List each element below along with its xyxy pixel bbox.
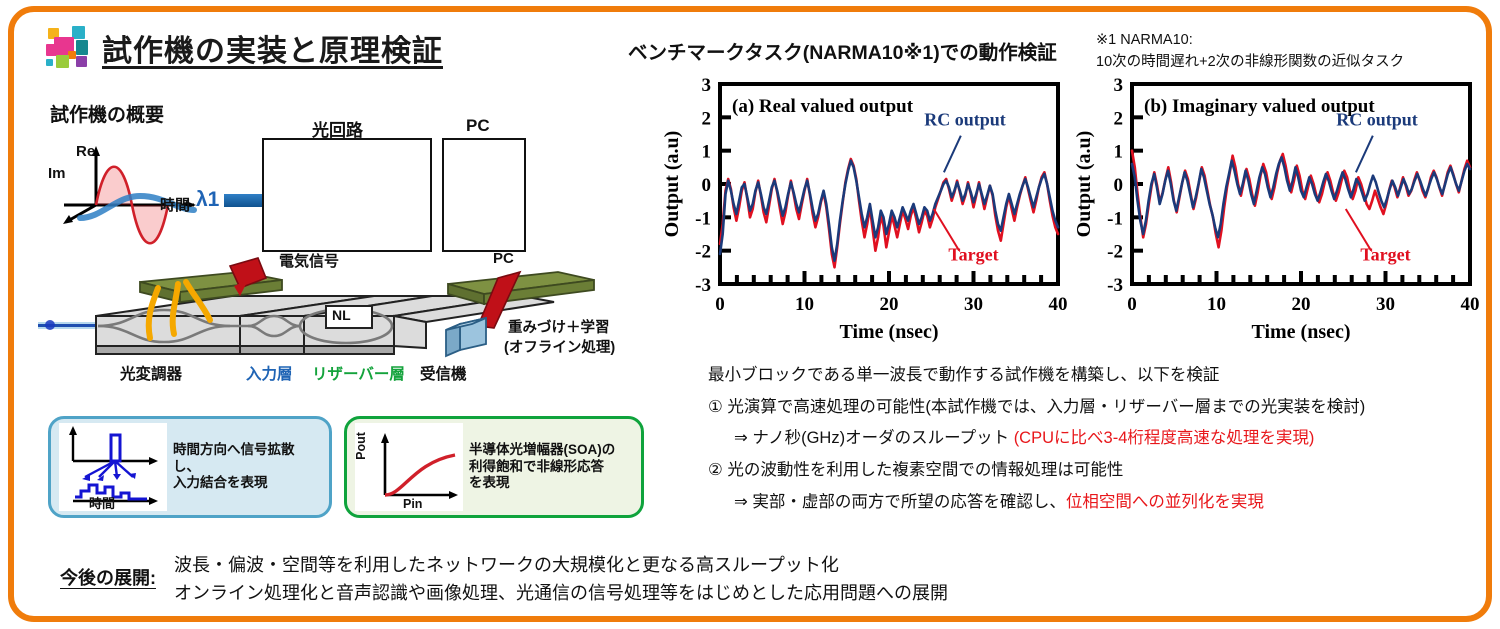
soa-saturation-chart: Pout Pin — [355, 423, 463, 511]
modulator-label: 光変調器 — [120, 362, 182, 384]
wavelength-label: λ1 — [196, 188, 219, 212]
callout-soa-line3: を表現 — [469, 475, 510, 490]
charts-container: -3-2-10123010203040Time (nsec)Output (a.… — [662, 72, 1500, 352]
svg-text:10: 10 — [795, 294, 814, 315]
soa-y-axis-label: Pout — [354, 432, 368, 460]
svg-text:-1: -1 — [1107, 208, 1123, 229]
finding-item-2-result: ⇒ 実部・虚部の両方で所望の応答を確認し、位相空間への並列化を実現 — [708, 487, 1365, 519]
finding-item-1-result: ⇒ ナノ秒(GHz)オーダのスループット (CPUに比べ3-4桁程度高速な処理を… — [708, 423, 1365, 455]
svg-text:Output (a.u): Output (a.u) — [662, 131, 683, 238]
svg-text:0: 0 — [1114, 175, 1124, 196]
optical-circuit-label: 光回路 — [312, 116, 363, 141]
svg-text:2: 2 — [702, 108, 712, 129]
axis-label-re: Re — [76, 143, 95, 160]
chart-b-svg: -3-2-10123010203040Time (nsec)Output (a.… — [1074, 72, 1482, 352]
conclusion-lines: 波長・偏波・空間等を利用したネットワークの大規模化と更なる高スループット化 オン… — [174, 552, 948, 608]
finding-2-result-black: ⇒ 実部・虚部の両方で所望の応答を確認し、 — [734, 493, 1066, 511]
svg-text:40: 40 — [1049, 294, 1068, 315]
conclusion-label: 今後の展開: — [60, 552, 156, 590]
svg-text:20: 20 — [880, 294, 899, 315]
svg-text:Target: Target — [1360, 245, 1410, 265]
chart-a-svg: -3-2-10123010203040Time (nsec)Output (a.… — [662, 72, 1070, 352]
chart-real-valued-output: -3-2-10123010203040Time (nsec)Output (a.… — [662, 72, 1070, 352]
pc-box — [442, 138, 526, 252]
finding-2-result-red: 位相空間への並列化を実現 — [1066, 493, 1264, 511]
nl-label: NL — [332, 307, 351, 323]
callout-time-axis-label: 時間 — [89, 493, 115, 512]
finding-1-result-red: (CPUに比べ3-4桁程度高速な処理を実現) — [1014, 429, 1315, 447]
findings-list: 最小ブロックである単一波長で動作する試作機を構築し、以下を検証 ① 光演算で高速… — [708, 360, 1365, 518]
svg-text:3: 3 — [702, 75, 712, 96]
soa-x-axis-label: Pin — [403, 497, 422, 511]
callout-input-coupling: 時間 時間方向へ信号拡散し、 入力結合を表現 — [48, 416, 332, 518]
svg-text:(a) Real valued output: (a) Real valued output — [732, 96, 914, 117]
svg-text:-3: -3 — [695, 275, 711, 296]
svg-text:-2: -2 — [695, 242, 711, 263]
finding-item-2: ② 光の波動性を利用した複素空間での情報処理は可能性 — [708, 455, 1365, 487]
finding-1-result-black: ⇒ ナノ秒(GHz)オーダのスループット — [734, 429, 1009, 447]
pc-label-top: PC — [466, 116, 490, 136]
svg-text:Time (nsec): Time (nsec) — [1251, 321, 1350, 343]
finding-item-1: ① 光演算で高速処理の可能性(本試作機では、入力層・リザーバー層までの光実装を検… — [708, 392, 1365, 424]
svg-text:1: 1 — [1114, 142, 1124, 163]
optical-circuit-box — [262, 138, 432, 252]
time-axis-label: 時間 — [160, 194, 190, 215]
receiver-label: 受信機 — [420, 362, 467, 384]
benchmark-note-line1: ※1 NARMA10: — [1096, 32, 1193, 48]
findings-intro: 最小ブロックである単一波長で動作する試作機を構築し、以下を検証 — [708, 360, 1365, 392]
svg-text:0: 0 — [715, 294, 725, 315]
chart-imaginary-valued-output: -3-2-10123010203040Time (nsec)Output (a.… — [1074, 72, 1482, 352]
svg-text:RC output: RC output — [1336, 110, 1418, 130]
input-layer-label: 入力層 — [246, 362, 293, 384]
input-spread-diagram: 時間 — [59, 423, 167, 511]
svg-text:10: 10 — [1207, 294, 1226, 315]
wavelength-bar — [224, 194, 266, 207]
callout-soa-nonlinearity: Pout Pin 半導体光増幅器(SOA)の 利得飽和で非線形応答 を表現 — [344, 416, 644, 518]
page-title: 試作機の実装と原理検証 — [102, 26, 443, 70]
mosaic-squares-icon — [46, 26, 90, 70]
slide-frame: 試作機の実装と原理検証 試作機の概要 — [8, 6, 1492, 622]
svg-text:0: 0 — [1127, 294, 1137, 315]
svg-text:-1: -1 — [695, 208, 711, 229]
photonic-chip-diagram: 電気信号 PC NL 重みづけ＋学習 (オフライン処理) 光変調器 入力層 リザ… — [34, 244, 644, 386]
callout-soa-line2: 利得飽和で非線形応答 — [469, 459, 604, 474]
svg-text:Time (nsec): Time (nsec) — [839, 321, 938, 343]
conclusion-line-2: オンライン処理化と音声認識や画像処理、光通信の信号処理等をはじめとした応用問題へ… — [174, 583, 948, 603]
svg-text:Target: Target — [948, 245, 998, 265]
svg-text:-3: -3 — [1107, 275, 1123, 296]
callout-text-line1: 時間方向へ信号拡散し、 — [173, 442, 295, 473]
conclusion-line-1: 波長・偏波・空間等を利用したネットワークの大規模化と更なる高スループット化 — [174, 555, 839, 575]
concept-schematic: Re Im 時間 λ1 光回路 PC — [44, 110, 604, 255]
electric-signal-label: 電気信号 — [279, 250, 339, 271]
conclusion-block: 今後の展開: 波長・偏波・空間等を利用したネットワークの大規模化と更なる高スルー… — [60, 552, 948, 608]
axis-label-im: Im — [48, 165, 66, 182]
weight-learning-label-line2: (オフライン処理) — [504, 336, 615, 357]
callout-soa-text: 半導体光増幅器(SOA)の 利得飽和で非線形応答 を表現 — [469, 442, 615, 491]
svg-text:30: 30 — [1376, 294, 1395, 315]
svg-text:20: 20 — [1292, 294, 1311, 315]
svg-text:Output (a.u): Output (a.u) — [1074, 131, 1095, 238]
svg-text:RC output: RC output — [924, 110, 1006, 130]
callout-soa-line1: 半導体光増幅器(SOA)の — [469, 442, 615, 457]
weight-learning-label-line1: 重みづけ＋学習 — [508, 316, 610, 337]
callout-input-coupling-text: 時間方向へ信号拡散し、 入力結合を表現 — [173, 442, 321, 491]
reservoir-layer-label: リザーバー層 — [312, 362, 405, 384]
benchmark-title: ベンチマークタスク(NARMA10※1)での動作検証 — [628, 36, 1057, 65]
svg-text:0: 0 — [702, 175, 712, 196]
svg-text:-2: -2 — [1107, 242, 1123, 263]
svg-text:1: 1 — [702, 142, 712, 163]
svg-text:30: 30 — [964, 294, 983, 315]
pc-label-chip: PC — [493, 250, 514, 267]
svg-text:40: 40 — [1461, 294, 1480, 315]
benchmark-note: ※1 NARMA10: 10次の時間遅れ+2次の非線形関数の近似タスク — [1096, 30, 1404, 74]
callout-text-line2: 入力結合を表現 — [173, 475, 268, 490]
svg-text:3: 3 — [1114, 75, 1124, 96]
page-header: 試作機の実装と原理検証 — [46, 26, 443, 70]
benchmark-note-line2: 10次の時間遅れ+2次の非線形関数の近似タスク — [1096, 54, 1404, 70]
svg-text:2: 2 — [1114, 108, 1124, 129]
